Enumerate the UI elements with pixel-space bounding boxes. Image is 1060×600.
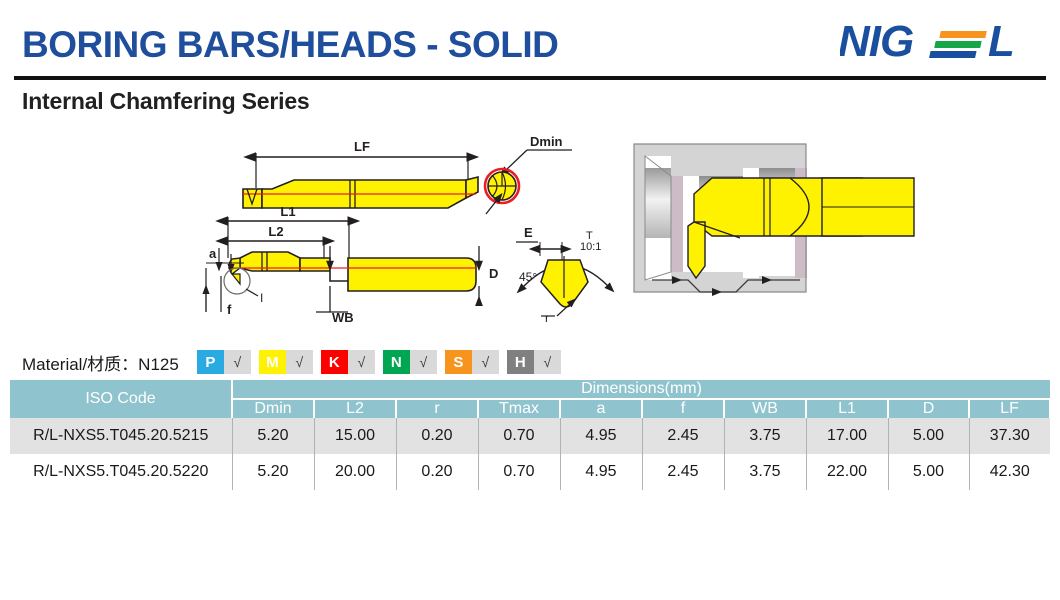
- svg-text:Dmin: Dmin: [530, 134, 563, 149]
- diagram-top-view: LF: [243, 139, 478, 208]
- svg-text:10:1: 10:1: [580, 241, 601, 253]
- svg-text:a: a: [209, 246, 217, 261]
- cell-l2: 20.00: [314, 454, 396, 490]
- cell-dmin: 5.20: [232, 418, 314, 454]
- column-header-f: f: [642, 399, 724, 418]
- material-letter-m: M: [259, 350, 286, 374]
- column-header-wb: WB: [724, 399, 806, 418]
- material-check-p: √: [224, 350, 251, 374]
- svg-text:L2: L2: [268, 224, 283, 239]
- svg-text:L1: L1: [280, 204, 295, 219]
- diagram-side-view: L1 L2 a f I WB D: [206, 204, 498, 325]
- table-row[interactable]: R/L-NXS5.T045.20.5220 5.20 20.00 0.20 0.…: [10, 454, 1050, 490]
- diagram-dmin-detail: Dmin: [485, 134, 572, 214]
- column-header-tmax: Tmax: [478, 399, 560, 418]
- cell-l1: 22.00: [806, 454, 888, 490]
- material-letter-k: K: [321, 350, 348, 374]
- material-check-k: √: [348, 350, 375, 374]
- svg-text:LF: LF: [354, 139, 370, 154]
- column-header-l2: L2: [314, 399, 396, 418]
- title-divider: [14, 76, 1046, 80]
- brand-logo-nigel: NIG L: [840, 16, 1040, 70]
- column-header-l1: L1: [806, 399, 888, 418]
- series-subtitle: Internal Chamfering Series: [22, 88, 310, 115]
- cell-wb: 3.75: [724, 418, 806, 454]
- column-header-a: a: [560, 399, 642, 418]
- cell-f: 2.45: [642, 454, 724, 490]
- cell-wb: 3.75: [724, 454, 806, 490]
- cell-a: 4.95: [560, 418, 642, 454]
- material-letter-h: H: [507, 350, 534, 374]
- cell-l2: 15.00: [314, 418, 396, 454]
- cell-d: 5.00: [888, 418, 969, 454]
- svg-text:D: D: [489, 266, 498, 281]
- cell-l1: 17.00: [806, 418, 888, 454]
- material-label: Material/材质：N125: [22, 350, 179, 375]
- material-check-h: √: [534, 350, 561, 374]
- cell-tmax: 0.70: [478, 454, 560, 490]
- material-badge-h[interactable]: H √: [507, 350, 561, 374]
- material-check-s: √: [472, 350, 499, 374]
- cell-iso-code: R/L-NXS5.T045.20.5220: [10, 454, 232, 490]
- material-check-n: √: [410, 350, 437, 374]
- svg-text:NIG: NIG: [840, 17, 913, 66]
- cell-a: 4.95: [560, 454, 642, 490]
- material-letter-n: N: [383, 350, 410, 374]
- column-header-lf: LF: [969, 399, 1050, 418]
- svg-text:r: r: [545, 311, 549, 325]
- svg-text:WB: WB: [332, 310, 354, 325]
- cell-lf: 42.30: [969, 454, 1050, 490]
- page-title: BORING BARS/HEADS - SOLID: [22, 24, 558, 66]
- svg-text:L: L: [988, 17, 1015, 66]
- cell-d: 5.00: [888, 454, 969, 490]
- material-badge-p[interactable]: P √: [197, 350, 251, 374]
- column-header-d: D: [888, 399, 969, 418]
- column-header-dmin: Dmin: [232, 399, 314, 418]
- diagram-chamfer-detail: E T 10:1 45° r: [516, 225, 608, 325]
- table-row[interactable]: R/L-NXS5.T045.20.5215 5.20 15.00 0.20 0.…: [10, 418, 1050, 454]
- svg-text:f: f: [227, 302, 232, 317]
- material-badge-k[interactable]: K √: [321, 350, 375, 374]
- svg-text:E: E: [524, 225, 533, 240]
- column-header-dimensions: Dimensions(mm): [232, 380, 1050, 399]
- material-badge-n[interactable]: N √: [383, 350, 437, 374]
- cell-dmin: 5.20: [232, 454, 314, 490]
- column-header-r: r: [396, 399, 478, 418]
- cell-lf: 37.30: [969, 418, 1050, 454]
- material-letter-p: P: [197, 350, 224, 374]
- material-check-m: √: [286, 350, 313, 374]
- cell-r: 0.20: [396, 454, 478, 490]
- svg-text:45°: 45°: [519, 270, 537, 284]
- cell-r: 0.20: [396, 418, 478, 454]
- cell-f: 2.45: [642, 418, 724, 454]
- diagram-application-view: [634, 144, 914, 296]
- specification-table: ISO Code Dimensions(mm) Dmin L2 r Tmax a…: [10, 380, 1051, 490]
- technical-drawing-area: LF Dmin L1 L2: [0, 126, 1060, 331]
- cell-tmax: 0.70: [478, 418, 560, 454]
- material-letter-s: S: [445, 350, 472, 374]
- cell-iso-code: R/L-NXS5.T045.20.5215: [10, 418, 232, 454]
- material-badge-s[interactable]: S √: [445, 350, 499, 374]
- column-header-iso-code: ISO Code: [10, 380, 232, 418]
- material-row: Material/材质：N125 P √ M √ K √ N √ S √ H √: [22, 350, 569, 374]
- svg-text:I: I: [260, 291, 263, 305]
- material-badge-m[interactable]: M √: [259, 350, 313, 374]
- table-header-row-1: ISO Code Dimensions(mm): [10, 380, 1050, 399]
